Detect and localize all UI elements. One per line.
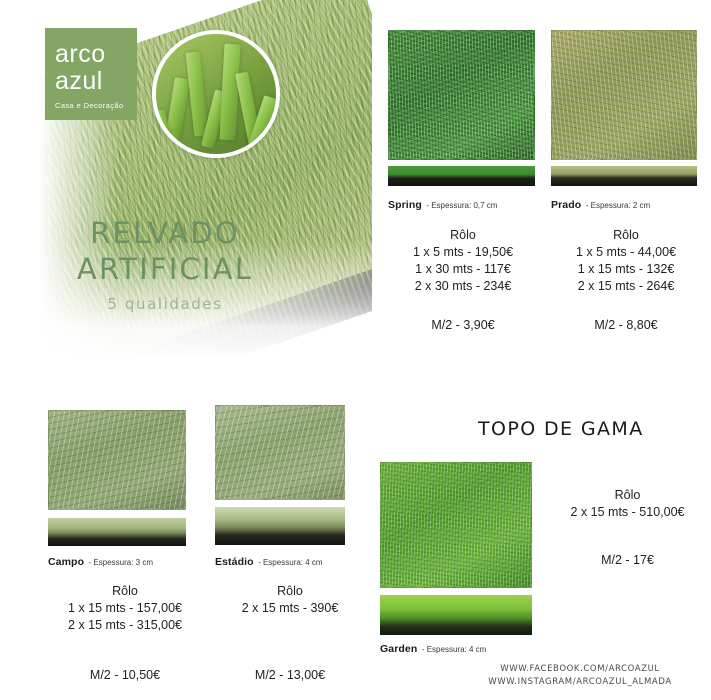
- product-image-spring-top: [388, 30, 535, 160]
- hero-title-line2: Artificial: [0, 251, 330, 287]
- rolo-price-prado-1: 1 x 5 mts - 44,00€: [546, 244, 706, 261]
- product-prices-campo: Rôlo 1 x 15 mts - 157,00€ 2 x 15 mts - 3…: [40, 583, 210, 634]
- product-label-campo: Campo - Espessura: 3 cm: [48, 552, 218, 570]
- brand-logo: arco azul Casa e Decoração: [45, 28, 137, 120]
- grass-blade-icon: [186, 51, 209, 136]
- rolo-price-campo-1: 1 x 15 mts - 157,00€: [40, 600, 210, 617]
- rolo-price-spring-1: 1 x 5 mts - 19,50€: [383, 244, 543, 261]
- product-side-image-prado: [551, 166, 697, 186]
- premium-section-title: Topo de gama: [478, 418, 708, 440]
- product-m2-price-campo: M/2 - 10,50€: [40, 668, 210, 682]
- product-side-image-spring: [388, 166, 535, 186]
- product-name-estadio: Estádio: [215, 556, 254, 568]
- hero-subtitle: 5 qualidades: [0, 295, 330, 313]
- product-prices-spring: Rôlo 1 x 5 mts - 19,50€ 1 x 30 mts - 117…: [383, 227, 543, 295]
- footer-social-links: WWW.FACEBOOK.COM/ARCOAZUL WWW.INSTAGRAM/…: [449, 663, 711, 689]
- product-name-prado: Prado: [551, 199, 581, 211]
- product-side-image-campo: [48, 518, 186, 546]
- product-prices-garden: Rôlo 2 x 15 mts - 510,00€: [545, 487, 710, 521]
- product-card-prado: [551, 30, 697, 160]
- product-name-garden: Garden: [380, 643, 417, 655]
- product-image-estadio-top: [215, 405, 345, 500]
- hero-title-line1: Relvado: [0, 215, 330, 251]
- rolo-price-prado-3: 2 x 15 mts - 264€: [546, 278, 706, 295]
- brand-tagline: Casa e Decoração: [55, 101, 137, 110]
- rolo-label-campo: Rôlo: [40, 583, 210, 600]
- hero-section: arco azul Casa e Decoração Relvado Artif…: [0, 0, 372, 360]
- product-image-garden-top: [380, 462, 532, 588]
- rolo-price-spring-3: 2 x 30 mts - 234€: [383, 278, 543, 295]
- rolo-price-spring-2: 1 x 30 mts - 117€: [383, 261, 543, 278]
- product-label-garden: Garden - Espessura: 4 cm: [380, 639, 570, 657]
- product-card-estadio: [215, 405, 345, 500]
- product-name-campo: Campo: [48, 556, 84, 568]
- rolo-label-spring: Rôlo: [383, 227, 543, 244]
- hero-heading-group: Relvado Artificial 5 qualidades: [0, 215, 330, 313]
- product-thickness-garden: - Espessura: 4 cm: [422, 645, 486, 654]
- product-side-image-garden: [380, 595, 532, 635]
- instagram-url[interactable]: WWW.INSTAGRAM/ARCOAZUL_ALMADA: [449, 676, 711, 689]
- poster-root: arco azul Casa e Decoração Relvado Artif…: [0, 0, 711, 700]
- brand-name-line1: arco: [55, 41, 137, 68]
- rolo-label-garden: Rôlo: [545, 487, 710, 504]
- product-thickness-prado: - Espessura: 2 cm: [586, 201, 650, 210]
- rolo-label-prado: Rôlo: [546, 227, 706, 244]
- magnifier-fiber-closeup: [156, 34, 276, 154]
- rolo-price-garden-1: 2 x 15 mts - 510,00€: [545, 504, 710, 521]
- product-prices-prado: Rôlo 1 x 5 mts - 44,00€ 1 x 15 mts - 132…: [546, 227, 706, 295]
- product-label-prado: Prado - Espessura: 2 cm: [551, 195, 711, 213]
- rolo-label-estadio: Rôlo: [205, 583, 375, 600]
- product-m2-price-estadio: M/2 - 13,00€: [205, 668, 375, 682]
- magnifier-detail-circle: [152, 30, 280, 158]
- facebook-url[interactable]: WWW.FACEBOOK.COM/ARCOAZUL: [449, 663, 711, 676]
- product-label-spring: Spring - Espessura: 0,7 cm: [388, 195, 558, 213]
- product-card-garden: [380, 462, 532, 588]
- product-prices-estadio: Rôlo 2 x 15 mts - 390€: [205, 583, 375, 617]
- product-thickness-estadio: - Espessura: 4 cm: [258, 558, 322, 567]
- product-image-campo-top: [48, 410, 186, 510]
- rolo-price-estadio-1: 2 x 15 mts - 390€: [205, 600, 375, 617]
- product-thickness-campo: - Espessura: 3 cm: [89, 558, 153, 567]
- rolo-price-campo-2: 2 x 15 mts - 315,00€: [40, 617, 210, 634]
- product-card-campo: [48, 410, 186, 510]
- product-side-image-estadio: [215, 507, 345, 545]
- grass-blade-icon: [219, 44, 240, 141]
- product-label-estadio: Estádio - Espessura: 4 cm: [215, 552, 385, 570]
- product-card-spring: [388, 30, 535, 160]
- product-thickness-spring: - Espessura: 0,7 cm: [426, 201, 497, 210]
- product-m2-price-garden: M/2 - 17€: [545, 553, 710, 567]
- product-name-spring: Spring: [388, 199, 422, 211]
- product-m2-price-prado: M/2 - 8,80€: [546, 318, 706, 332]
- product-image-prado-top: [551, 30, 697, 160]
- rolo-price-prado-2: 1 x 15 mts - 132€: [546, 261, 706, 278]
- product-m2-price-spring: M/2 - 3,90€: [383, 318, 543, 332]
- brand-name-line2: azul: [55, 68, 137, 95]
